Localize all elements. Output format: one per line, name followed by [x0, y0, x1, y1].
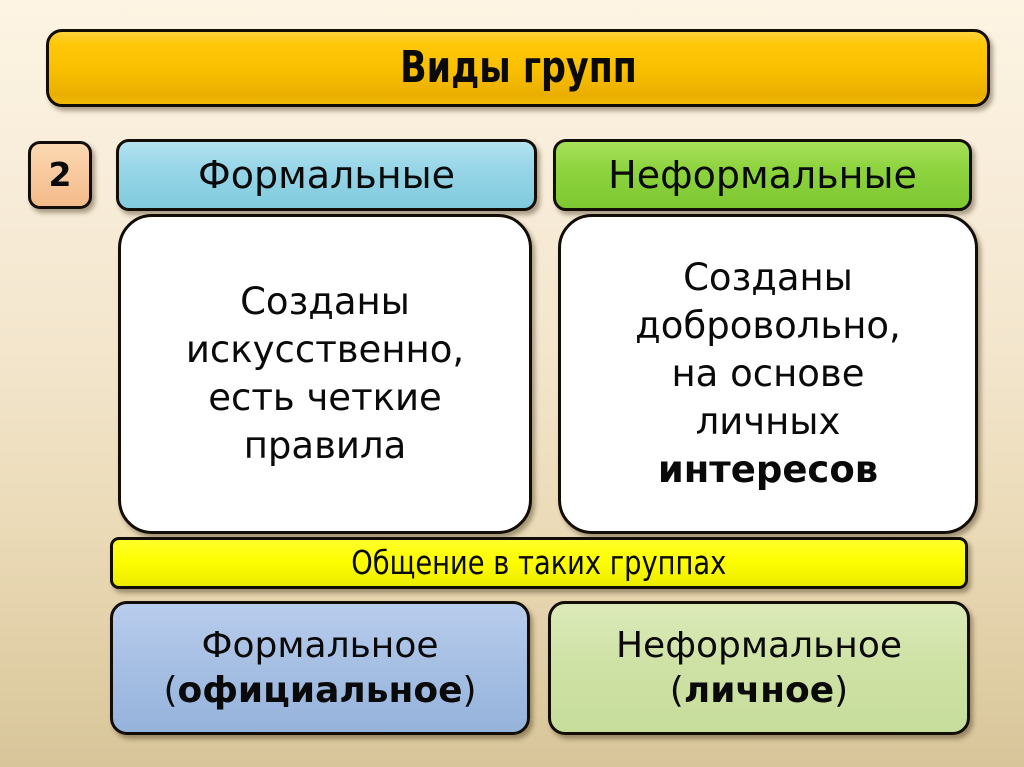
formal-desc-line-3: есть четкие [208, 374, 442, 422]
panel-formal-description: Созданы искусственно, есть четкие правил… [118, 214, 532, 534]
informal-desc-line-1: Созданы [683, 254, 853, 302]
informal-desc-line-4: личных [696, 398, 841, 446]
slide-number-badge: 2 [28, 141, 92, 209]
formal-result-emphasis: официальное [177, 670, 462, 711]
header-formal-groups-label: Формальные [198, 153, 455, 198]
result-formal-communication: Формальное (официальное) [110, 601, 530, 735]
informal-result-paren-open: ( [670, 670, 684, 711]
slide-title-box: Виды групп [46, 29, 990, 107]
formal-desc-line-1: Созданы [240, 278, 410, 326]
slide-canvas: Виды групп 2 Формальные Неформальные Соз… [0, 0, 1024, 767]
header-informal-groups: Неформальные [553, 139, 972, 211]
informal-result-emphasis: личное [684, 670, 834, 711]
informal-desc-line-3: на основе [671, 350, 864, 398]
communication-bar-label: Общение в таких группах [352, 544, 727, 583]
formal-desc-line-2: искусственно, [186, 326, 464, 374]
formal-result-paren-close: ) [463, 670, 477, 711]
header-formal-groups: Формальные [116, 139, 537, 211]
formal-result-line-2: (официальное) [163, 668, 476, 713]
informal-result-line-1: Неформальное [616, 623, 902, 668]
informal-desc-line-2: добровольно, [635, 302, 901, 350]
formal-result-line-1: Формальное [201, 623, 438, 668]
slide-number-badge-text: 2 [49, 156, 72, 195]
informal-result-paren-close: ) [834, 670, 848, 711]
formal-desc-line-4: правила [244, 422, 407, 470]
header-informal-groups-label: Неформальные [608, 153, 917, 198]
informal-result-line-2: (личное) [670, 668, 848, 713]
communication-bar: Общение в таких группах [110, 537, 968, 589]
result-informal-communication: Неформальное (личное) [548, 601, 970, 735]
panel-informal-description: Созданы добровольно, на основе личных ин… [558, 214, 978, 534]
formal-result-paren-open: ( [163, 670, 177, 711]
informal-desc-line-5: интересов [658, 446, 878, 494]
slide-title-text: Виды групп [400, 42, 637, 94]
